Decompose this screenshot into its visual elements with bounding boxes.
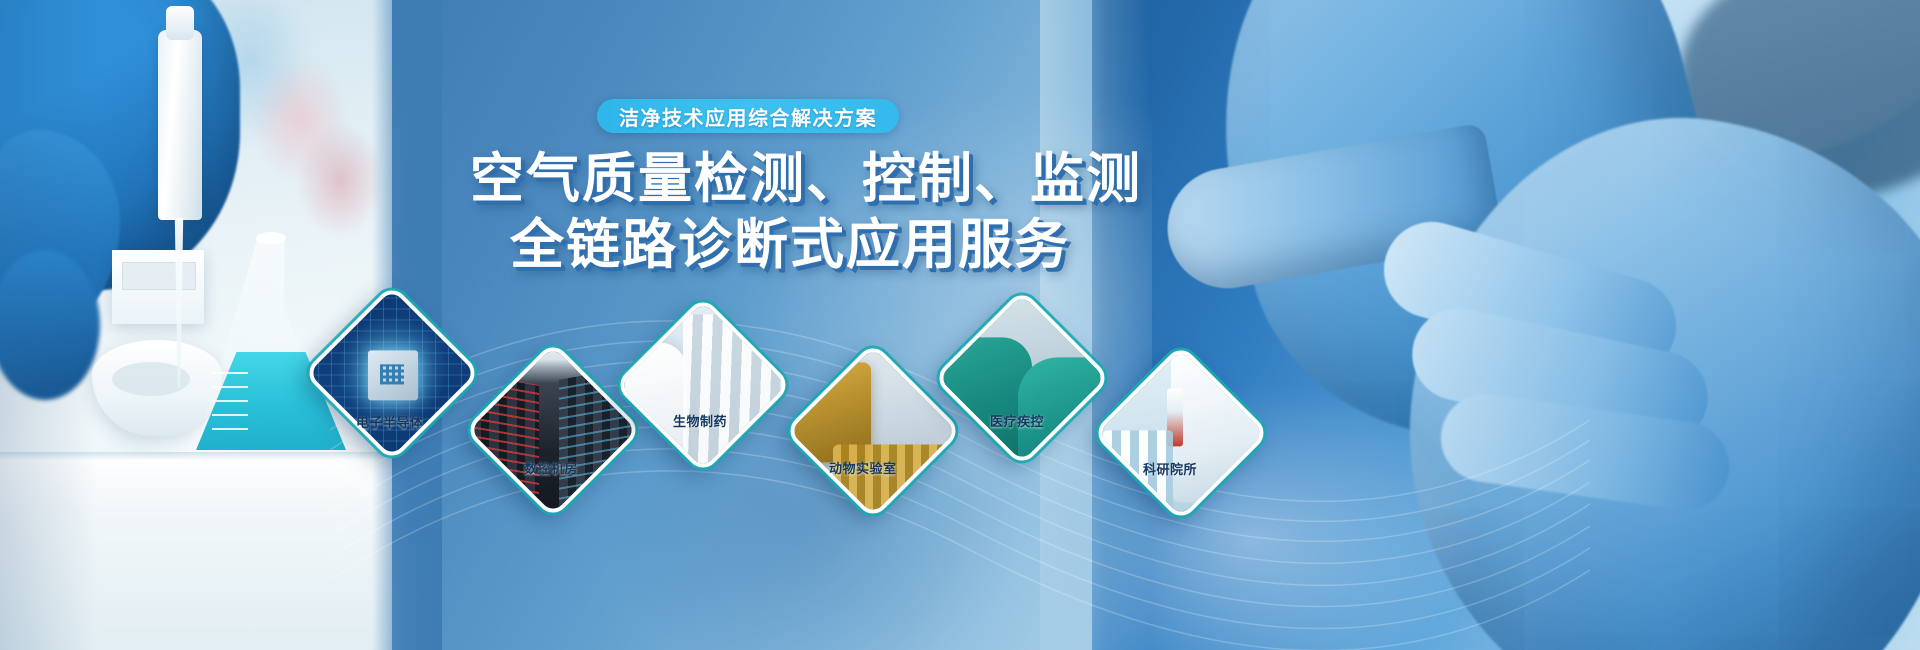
animal-laboratory-icon [784,342,962,520]
card-animal-laboratory[interactable] [784,342,962,520]
research-institute-lab-icon [1092,344,1270,522]
card-label-electronic-semiconductor: 电子半导体 [356,412,424,431]
card-label-data-center: 数控机房 [524,458,578,477]
card-electronic-semiconductor[interactable] [303,284,481,462]
card-data-center[interactable] [464,341,642,519]
industry-card-list: 电子半导体 数控机房 生物制药 动物实验室 医疗疾控 科研院所 [0,0,1920,650]
biopharmaceutical-cleanroom-icon [614,296,792,474]
card-research-institute[interactable] [1092,344,1270,522]
card-medical-disease-control[interactable] [933,289,1111,467]
hero-banner: 洁净技术应用综合解决方案 空气质量检测、控制、监测 全链路诊断式应用服务 电子半… [0,0,1920,650]
card-label-animal-laboratory: 动物实验室 [829,458,897,477]
card-biopharmaceutical[interactable] [614,296,792,474]
card-label-medical-disease-control: 医疗疾控 [990,411,1044,430]
card-label-biopharmaceutical: 生物制药 [673,411,727,430]
medical-surgery-icon [933,289,1111,467]
data-center-server-room-icon [464,341,642,519]
test-tube-icon [1167,388,1183,446]
card-label-research-institute: 科研院所 [1143,459,1197,478]
semiconductor-circuit-board-icon [303,284,481,462]
